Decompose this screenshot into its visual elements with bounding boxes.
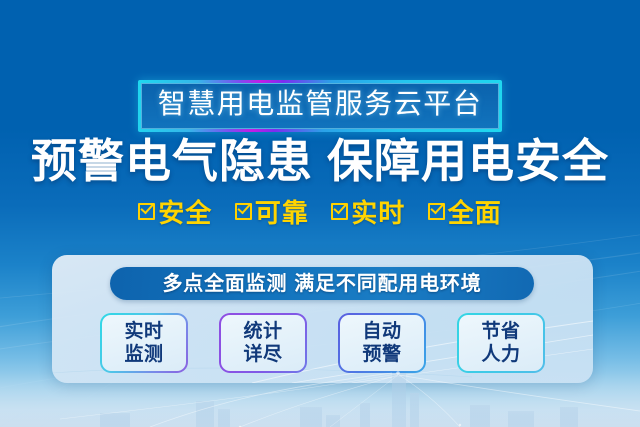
feature-label-2: 实时 [351,198,405,228]
pill-part-1: 多点全面监测 [162,273,287,295]
panel-headline-pill: 多点全面监测满足不同配用电环境 [110,267,534,300]
headline-part-2: 保障用电安全 [327,135,609,187]
pill-part-2: 满足不同配用电环境 [294,273,481,295]
feature-card-realtime-monitoring[interactable]: 实时 监测 [100,313,188,373]
card-line-2: 预警 [362,343,401,366]
feature-item-3: 全面 [428,198,502,228]
feature-label-0: 安全 [158,198,212,228]
badge-container: 智慧用电监管服务云平台 [0,80,640,132]
feature-check-row: 安全 可靠 实时 全面 [0,198,640,228]
platform-title-badge-inner: 智慧用电监管服务云平台 [141,83,500,129]
checkbox-checked-icon [138,203,155,220]
features-panel: 多点全面监测满足不同配用电环境 实时 监测 统计 详尽 自动 预警 [52,255,593,383]
main-headline: 预警电气隐患保障用电安全 [0,134,640,188]
platform-title-text: 智慧用电监管服务云平台 [158,88,483,119]
feature-card-realtime-monitoring-inner: 实时 监测 [102,315,186,371]
card-line-2: 详尽 [243,343,282,366]
card-line-1: 统计 [243,320,282,343]
feature-item-2: 实时 [331,198,405,228]
feature-card-detailed-statistics-inner: 统计 详尽 [221,315,305,371]
card-line-2: 人力 [481,343,520,366]
headline-part-1: 预警电气隐患 [31,135,313,187]
card-line-1: 实时 [124,320,163,343]
card-line-1: 自动 [362,320,401,343]
feature-card-automatic-alarm[interactable]: 自动 预警 [338,313,426,373]
poster-canvas: 智慧用电监管服务云平台 预警电气隐患保障用电安全 安全 可靠 实时 全面 [0,0,640,427]
feature-card-detailed-statistics[interactable]: 统计 详尽 [219,313,307,373]
panel-headline-text: 多点全面监测满足不同配用电环境 [162,272,481,296]
checkbox-checked-icon [331,203,348,220]
feature-card-save-manpower[interactable]: 节省 人力 [457,313,545,373]
platform-title-badge: 智慧用电监管服务云平台 [138,80,503,132]
feature-card-save-manpower-inner: 节省 人力 [459,315,543,371]
feature-item-0: 安全 [138,198,212,228]
checkbox-checked-icon [428,203,445,220]
feature-label-3: 全面 [448,198,502,228]
card-line-2: 监测 [124,343,163,366]
card-line-1: 节省 [481,320,520,343]
checkbox-checked-icon [235,203,252,220]
feature-card-list: 实时 监测 统计 详尽 自动 预警 节省 人力 [52,313,593,375]
feature-label-1: 可靠 [255,198,309,228]
feature-card-automatic-alarm-inner: 自动 预警 [340,315,424,371]
feature-item-1: 可靠 [235,198,309,228]
